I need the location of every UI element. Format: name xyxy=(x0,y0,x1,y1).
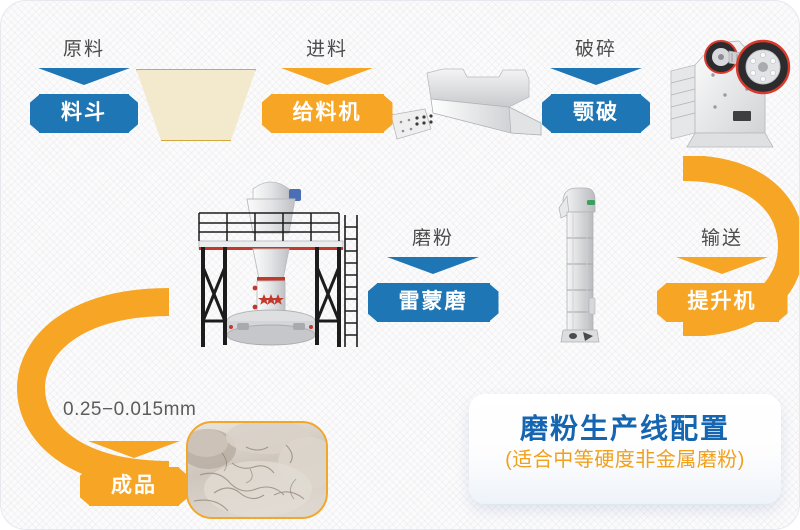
step-finished: 成品 xyxy=(79,441,189,506)
step-crushing-title: 破碎 xyxy=(531,39,661,61)
title-card-heading: 磨粉生产线配置 xyxy=(469,412,781,446)
title-card-subheading: (适合中等硬度非金属磨粉) xyxy=(469,446,781,474)
down-arrow-icon xyxy=(387,257,479,274)
step-crushing: 破碎 颚破 xyxy=(531,39,661,133)
step-raw-material-title: 原料 xyxy=(19,39,149,61)
step-finished-label[interactable]: 成品 xyxy=(89,467,179,506)
output-size-text: 0.25−0.015mm xyxy=(63,399,196,421)
raymond-mill-illustration xyxy=(181,171,361,351)
step-grinding-label[interactable]: 雷蒙磨 xyxy=(377,283,490,322)
step-crushing-label[interactable]: 颚破 xyxy=(551,94,641,133)
step-feeding: 进料 给料机 xyxy=(257,39,397,133)
hopper-illustration xyxy=(136,69,256,141)
jaw-crusher-illustration xyxy=(669,29,795,159)
down-arrow-icon xyxy=(281,68,373,85)
title-card: 磨粉生产线配置 (适合中等硬度非金属磨粉) xyxy=(469,394,781,504)
down-arrow-icon xyxy=(550,68,642,85)
step-conveying-label[interactable]: 提升机 xyxy=(666,283,779,322)
down-arrow-icon xyxy=(88,441,180,458)
step-grinding-title: 磨粉 xyxy=(363,228,503,250)
step-conveying-title: 输送 xyxy=(663,228,781,250)
step-feeding-title: 进料 xyxy=(257,39,397,61)
step-raw-material-label[interactable]: 料斗 xyxy=(39,94,129,133)
finished-product-photo xyxy=(186,421,328,519)
step-conveying: 输送 提升机 xyxy=(663,228,781,322)
bucket-elevator-illustration xyxy=(549,186,611,344)
step-raw-material: 原料 料斗 xyxy=(19,39,149,133)
flow-diagram-canvas: 原料 料斗 进料 给料机 破碎 颚破 磨粉 雷蒙磨 输送 提升机 xyxy=(0,0,800,530)
down-arrow-icon xyxy=(676,257,768,274)
down-arrow-icon xyxy=(38,68,130,85)
step-grinding: 磨粉 雷蒙磨 xyxy=(363,228,503,322)
feeder-illustration xyxy=(391,63,551,163)
step-feeding-label[interactable]: 给料机 xyxy=(271,94,384,133)
